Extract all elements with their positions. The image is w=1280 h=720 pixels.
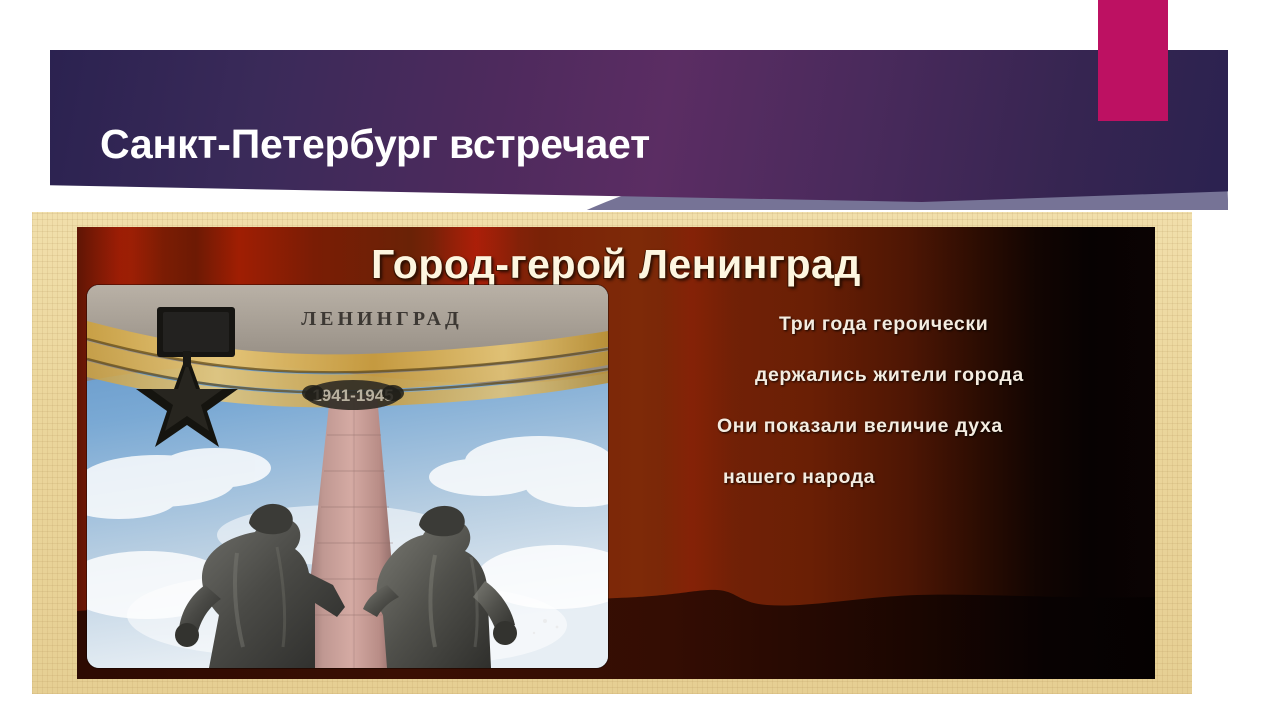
monument-photo: ЛЕНИНГРАД <box>87 285 608 668</box>
caption-line: держались жители города <box>755 364 1127 387</box>
presentation-slide: Санкт-Петербург встречает <box>0 0 1280 720</box>
caption-line: нашего народа <box>723 466 1127 489</box>
content-image: Город-герой Ленинград Три года героическ… <box>77 227 1155 679</box>
caption-block: Три года героически держались жители гор… <box>697 313 1127 489</box>
magenta-flag-accent <box>1098 0 1168 121</box>
svg-text:1941-1945: 1941-1945 <box>312 386 393 405</box>
caption-line: Они показали величие духа <box>717 415 1127 438</box>
caption-line: Три года героически <box>779 313 1127 336</box>
svg-text:ЛЕНИНГРАД: ЛЕНИНГРАД <box>301 308 463 330</box>
page-title: Санкт-Петербург встречает <box>100 122 1020 167</box>
content-image-heading: Город-герой Ленинград <box>77 241 1155 288</box>
